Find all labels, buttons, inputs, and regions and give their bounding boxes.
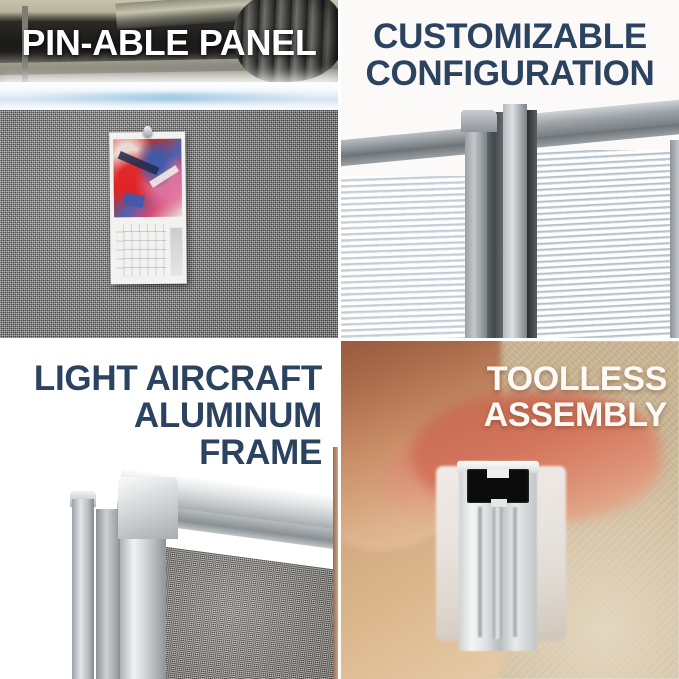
caption-line: ALUMINUM	[10, 397, 322, 434]
caption-toolless-assembly: TOOLLESS ASSEMBLY	[355, 361, 667, 433]
panel-toolless-assembly: TOOLLESS ASSEMBLY	[341, 341, 679, 679]
panel-fabric-insert	[149, 547, 338, 679]
caption-line: CONFIGURATION	[355, 55, 665, 92]
caption-line: PIN-ABLE PANEL	[0, 24, 338, 62]
window-blinds-right	[527, 150, 679, 338]
panel-pin-able: PIN-ABLE PANEL	[0, 0, 338, 338]
frame-corner-joint	[118, 477, 178, 539]
panel-customizable-configuration: CUSTOMIZABLE CONFIGURATION	[341, 0, 679, 338]
caption-line: FRAME	[10, 434, 322, 471]
frame-post-cap	[461, 110, 497, 132]
frame-post-divider	[527, 110, 537, 338]
frame-post-inner	[120, 531, 166, 679]
feature-grid-infographic: PIN-ABLE PANEL CUSTOMIZABLE CONFIGURATIO…	[0, 0, 679, 679]
ceiling-light-strip	[0, 82, 338, 112]
extrusion-slot-foot	[491, 499, 507, 507]
push-pin-icon	[143, 126, 152, 137]
extrusion-groove-left	[478, 507, 482, 637]
caption-light-aircraft-aluminum-frame: LIGHT AIRCRAFT ALUMINUM FRAME	[10, 360, 322, 471]
calendar-date-grid	[116, 224, 167, 277]
caption-line: TOOLLESS	[355, 361, 667, 397]
extrusion-slot-notch	[487, 469, 509, 478]
caption-pin-able-panel: PIN-ABLE PANEL	[0, 24, 338, 62]
grid-divider-horizontal	[0, 338, 679, 341]
frame-post-outer	[72, 499, 94, 679]
caption-customizable-configuration: CUSTOMIZABLE CONFIGURATION	[355, 18, 665, 92]
wall-calendar	[109, 132, 187, 285]
frame-post-right	[503, 104, 527, 338]
calendar-month-label	[170, 228, 183, 276]
extrusion-groove-right	[513, 507, 517, 637]
caption-line: CUSTOMIZABLE	[355, 18, 665, 55]
frame-right-edge	[670, 140, 679, 338]
panel-light-aircraft-aluminum-frame: LIGHT AIRCRAFT ALUMINUM FRAME	[0, 341, 338, 679]
caption-line: ASSEMBLY	[355, 397, 667, 433]
caption-line: LIGHT AIRCRAFT	[10, 360, 322, 397]
extrusion-center-web	[493, 507, 502, 639]
calendar-artwork	[113, 139, 182, 218]
